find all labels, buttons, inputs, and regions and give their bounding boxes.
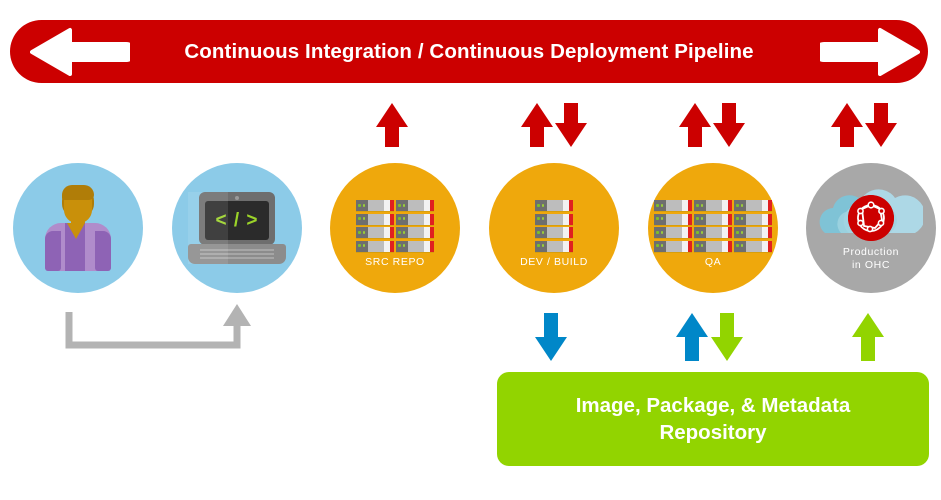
person-icon	[39, 185, 117, 271]
cicd-pipeline-diagram: Continuous Integration / Continuous Depl…	[0, 0, 941, 500]
stage-circle-qa[interactable]: QA	[648, 163, 778, 293]
arrow-up-src-repo	[376, 103, 408, 147]
code-glyph: < / >	[205, 201, 269, 240]
laptop-code-icon: < / >	[188, 192, 286, 264]
ohc-logo-icon	[848, 195, 894, 241]
server-rack-icon	[330, 200, 460, 254]
repository-title-line1: Image, Package, & Metadata	[576, 394, 851, 417]
repository-title-line2: Repository	[659, 421, 766, 444]
stage-label-production-line1: Production	[806, 246, 936, 259]
arrow-up-production-repo	[852, 313, 884, 361]
arrow-up-qa-repo	[676, 313, 708, 361]
stage-circle-dev-build[interactable]: DEV / BUILD	[489, 163, 619, 293]
stage-label-dev-build: DEV / BUILD	[489, 256, 619, 269]
stage-label-qa: QA	[648, 256, 778, 269]
stage-circle-workstation[interactable]: < / >	[172, 163, 302, 293]
pipeline-banner-title: Continuous Integration / Continuous Depl…	[10, 20, 928, 83]
arrow-down-dev-build	[555, 103, 587, 147]
arrow-down-production	[865, 103, 897, 147]
arrow-up-production	[831, 103, 863, 147]
stage-circle-src-repo[interactable]: SRC REPO	[330, 163, 460, 293]
arrow-up-qa	[679, 103, 711, 147]
arrow-up-dev-build	[521, 103, 553, 147]
stage-label-production-line2: in OHC	[806, 259, 936, 272]
pipeline-banner: Continuous Integration / Continuous Depl…	[10, 20, 928, 83]
server-rack-icon	[648, 200, 778, 254]
arrow-down-dev-build-repo	[535, 313, 567, 361]
stage-circle-production[interactable]: Production in OHC	[806, 163, 936, 293]
repository-box[interactable]: Image, Package, & Metadata Repository	[497, 372, 929, 466]
stage-circle-developer[interactable]	[13, 163, 143, 293]
server-rack-icon	[489, 200, 619, 254]
repository-arrows	[0, 305, 941, 367]
stage-label-src-repo: SRC REPO	[330, 256, 460, 269]
arrow-down-qa	[713, 103, 745, 147]
arrow-down-qa-repo	[711, 313, 743, 361]
pipeline-top-arrows	[0, 95, 941, 155]
